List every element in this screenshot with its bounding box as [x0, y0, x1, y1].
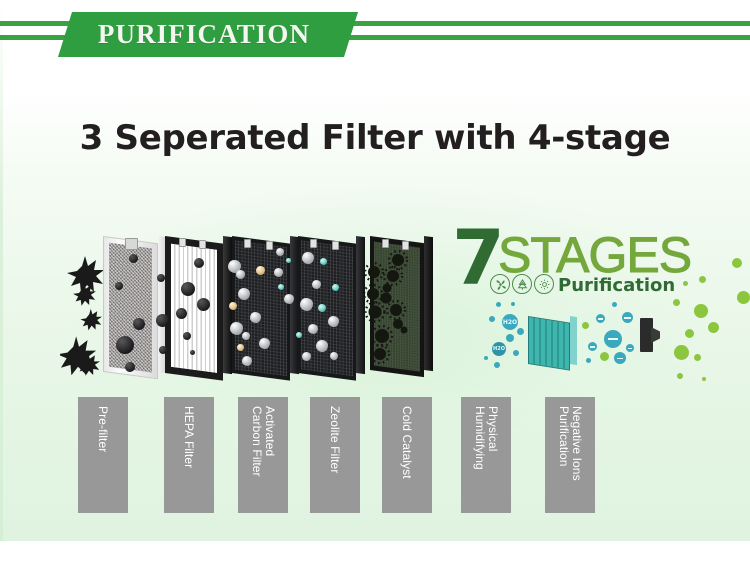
- stage-label-text: Cold Catalyst: [382, 397, 432, 513]
- stage-label-physical-humidifying[interactable]: Physical Humidifying: [461, 397, 511, 513]
- stage-label-pre-filter[interactable]: Pre-filter: [78, 397, 128, 513]
- stage-label-negative-ions[interactable]: Negative Ions Purification: [545, 397, 595, 513]
- stage-label-text: Zeolite Filter: [310, 397, 360, 513]
- stage-label-zeolite-filter[interactable]: Zeolite Filter: [310, 397, 360, 513]
- stage-label-text: Pre-filter: [78, 397, 128, 513]
- stage-label-text: Negative Ions Purification: [545, 397, 595, 513]
- stage-label-row: Pre-filter HEPA Filter Activated Carbon …: [0, 0, 750, 568]
- stage-label-cold-catalyst[interactable]: Cold Catalyst: [382, 397, 432, 513]
- stage-label-activated-carbon[interactable]: Activated Carbon Filter: [238, 397, 288, 513]
- purification-infographic: PURIFICATION 3 Seperated Filter with 4-s…: [0, 0, 750, 568]
- stage-label-text: Activated Carbon Filter: [238, 397, 288, 513]
- stage-label-hepa-filter[interactable]: HEPA Filter: [164, 397, 214, 513]
- stage-label-text: Physical Humidifying: [461, 397, 511, 513]
- stage-label-text: HEPA Filter: [164, 397, 214, 513]
